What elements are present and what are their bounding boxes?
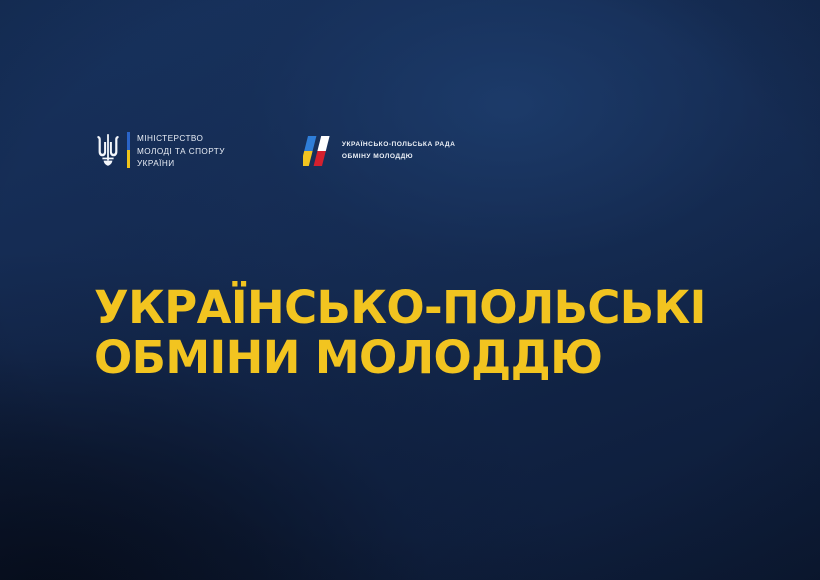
council-logo: УКРАЇНСЬКО-ПОЛЬСЬКА РАДА ОБМІНУ МОЛОДДЮ xyxy=(303,131,455,171)
flag-divider xyxy=(127,132,130,168)
ministry-line-1: МІНІСТЕРСТВО xyxy=(137,133,225,144)
banner-slide: МІНІСТЕРСТВО МОЛОДІ ТА СПОРТУ УКРАЇНИ УК… xyxy=(0,0,820,580)
headline-line-2: ОБМІНИ МОЛОДДЮ xyxy=(94,333,706,383)
ministry-line-2: МОЛОДІ ТА СПОРТУ xyxy=(137,146,225,157)
ministry-line-3: УКРАЇНИ xyxy=(137,158,225,169)
council-line-2: ОБМІНУ МОЛОДДЮ xyxy=(342,153,455,161)
ministry-logo: МІНІСТЕРСТВО МОЛОДІ ТА СПОРТУ УКРАЇНИ xyxy=(96,131,225,171)
ukraine-poland-flags-icon xyxy=(303,134,333,168)
ukrainian-trident-icon xyxy=(96,133,120,167)
council-line-1: УКРАЇНСЬКО-ПОЛЬСЬКА РАДА xyxy=(342,141,455,149)
page-title: УКРАЇНСЬКО-ПОЛЬСЬКІ ОБМІНИ МОЛОДДЮ xyxy=(94,283,706,383)
ministry-logo-text: МІНІСТЕРСТВО МОЛОДІ ТА СПОРТУ УКРАЇНИ xyxy=(137,131,225,171)
logo-row: МІНІСТЕРСТВО МОЛОДІ ТА СПОРТУ УКРАЇНИ УК… xyxy=(96,131,455,171)
council-logo-text: УКРАЇНСЬКО-ПОЛЬСЬКА РАДА ОБМІНУ МОЛОДДЮ xyxy=(342,141,455,161)
headline-line-1: УКРАЇНСЬКО-ПОЛЬСЬКІ xyxy=(94,283,706,333)
